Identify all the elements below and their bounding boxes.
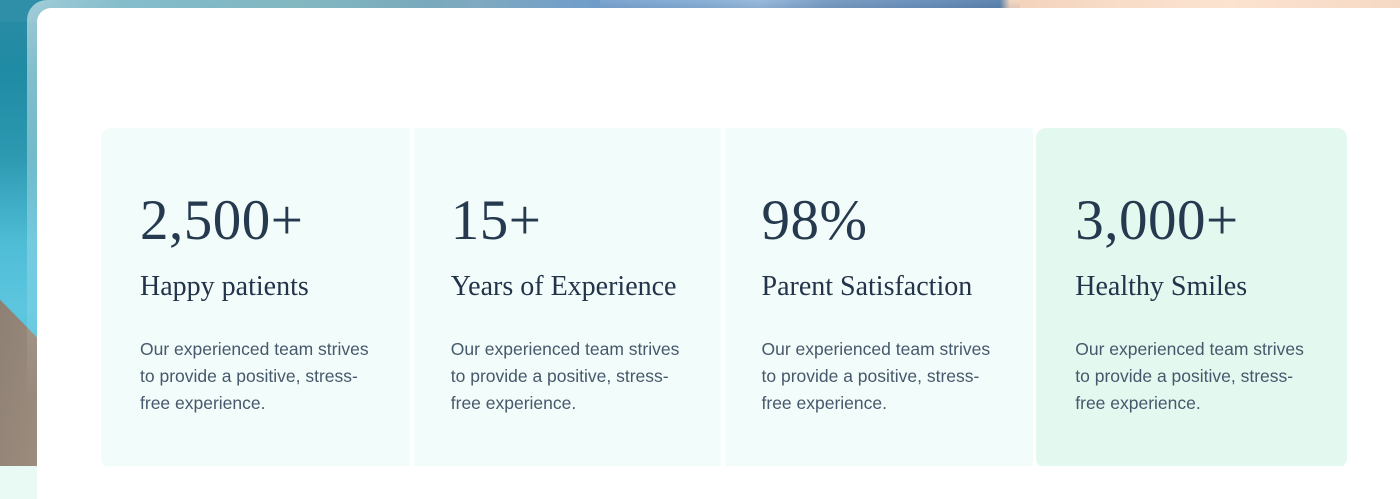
stat-description: Our experienced team strives to provide … xyxy=(451,336,689,417)
stat-description: Our experienced team strives to provide … xyxy=(762,336,1000,417)
stat-title: Healthy Smiles xyxy=(1075,271,1347,303)
stat-number: 3,000+ xyxy=(1075,192,1347,249)
stat-title: Years of Experience xyxy=(451,271,723,303)
stat-card-parent-satisfaction: 98% Parent Satisfaction Our experienced … xyxy=(723,128,1034,468)
stat-number: 98% xyxy=(762,192,1034,249)
below-panel-area xyxy=(0,466,1400,499)
stat-number: 15+ xyxy=(451,192,723,249)
stat-card-healthy-smiles: 3,000+ Healthy Smiles Our experienced te… xyxy=(1036,128,1347,468)
stat-description: Our experienced team strives to provide … xyxy=(140,336,378,417)
stat-title: Parent Satisfaction xyxy=(762,271,1034,303)
stat-card-years-of-experience: 15+ Years of Experience Our experienced … xyxy=(412,128,723,468)
stat-description: Our experienced team strives to provide … xyxy=(1075,336,1313,417)
stat-title: Happy patients xyxy=(140,271,412,303)
stat-card-happy-patients: 2,500+ Happy patients Our experienced te… xyxy=(101,128,412,468)
below-panel-card-gap xyxy=(101,466,1347,470)
stat-number: 2,500+ xyxy=(140,192,412,249)
stats-strip: 2,500+ Happy patients Our experienced te… xyxy=(101,128,1347,468)
below-panel-left-tint xyxy=(0,466,37,499)
